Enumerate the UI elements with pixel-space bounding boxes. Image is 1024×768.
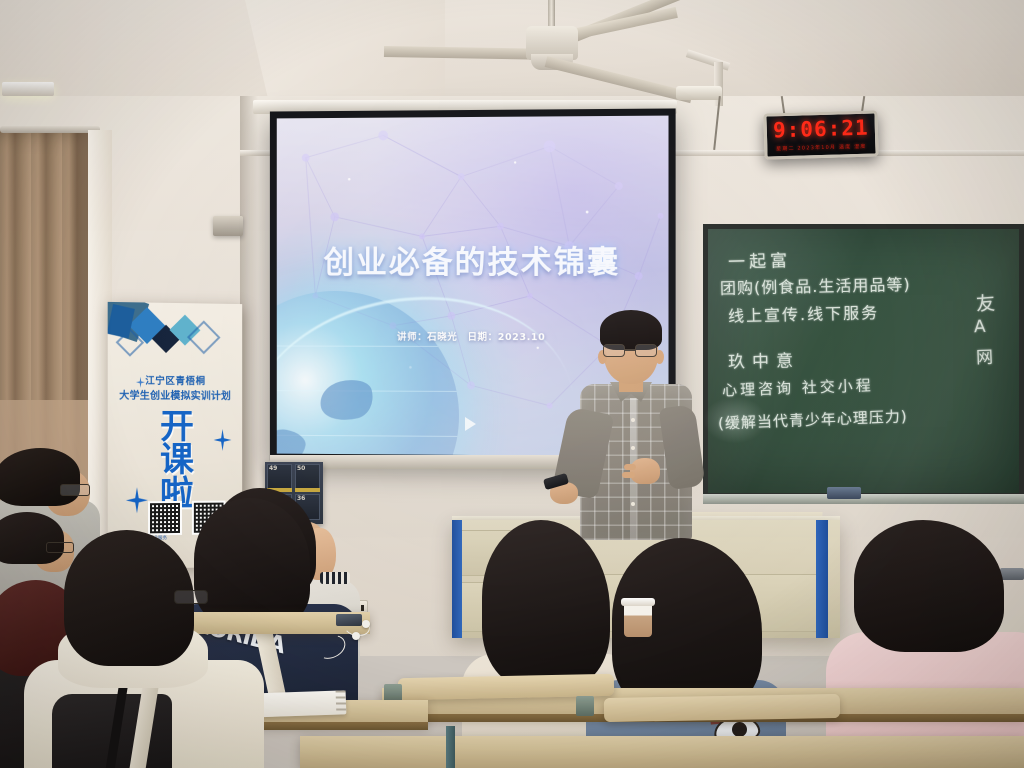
earbud xyxy=(362,620,370,628)
ceiling-light xyxy=(2,82,54,96)
student-hair xyxy=(0,448,80,506)
student-s4 xyxy=(28,530,278,768)
bench-seat xyxy=(604,694,840,722)
student-hair xyxy=(854,520,1004,652)
chalk-eraser xyxy=(827,487,861,499)
glasses-icon xyxy=(60,484,90,496)
locker-number: 50 xyxy=(297,465,305,472)
banner-headline: 开 课 啦 xyxy=(160,411,194,511)
lectern-trim xyxy=(816,520,828,638)
chalk-line-right: 网 xyxy=(976,343,994,369)
lectern-trim xyxy=(452,520,462,638)
presenter-right-hand xyxy=(630,458,660,484)
wall-speaker xyxy=(213,216,243,236)
banner-line-1: 江宁区青梧桐 xyxy=(108,372,242,387)
coffee-cup-lid xyxy=(621,598,655,606)
slide-title: 创业必备的技术锦囊 xyxy=(277,237,669,282)
ceiling-fan xyxy=(430,0,740,88)
glasses-icon xyxy=(603,344,659,357)
student-s8 xyxy=(596,538,780,768)
bench-bracket xyxy=(576,696,594,716)
projector-mount xyxy=(676,86,722,100)
classroom-photo: 一起富 团购(例食品.生活用品等) 线上宣传.线下服务 玖中意 心理咨询 社交小… xyxy=(0,0,1024,768)
play-triangle-icon xyxy=(465,417,476,431)
chalk-line: 线上宣传.线下服务 xyxy=(728,299,880,327)
desk-leg xyxy=(446,726,455,768)
chalk-line: 玖中意 xyxy=(728,346,800,372)
chalk-line-right: 友 xyxy=(975,288,996,316)
banner-headline-char: 课 xyxy=(160,444,194,477)
clock-time-display: 9:06:21 xyxy=(767,115,876,142)
chalk-line-right: A xyxy=(974,317,986,337)
chalk-line: 一起富 xyxy=(728,246,792,273)
digital-clock: 9:06:21 星期二 2023年10月 温度 湿度 xyxy=(763,110,878,159)
desk xyxy=(300,736,1024,768)
chalkboard: 一起富 团购(例食品.生活用品等) 线上宣传.线下服务 玖中意 心理咨询 社交小… xyxy=(703,224,1024,498)
clock-sub-display: 星期二 2023年10月 温度 湿度 xyxy=(767,142,875,152)
chalk-tray xyxy=(703,494,1024,504)
locker-number: 49 xyxy=(269,465,277,472)
earbud xyxy=(352,632,360,640)
glasses-icon xyxy=(174,590,208,604)
eye-patch-pupil xyxy=(732,722,747,737)
banner-line-2: 大学生创业模拟实训计划 xyxy=(108,387,242,403)
sparkle-icon xyxy=(126,487,148,513)
curtain-rod xyxy=(0,126,100,133)
sparkle-icon xyxy=(214,429,232,451)
coffee-cup xyxy=(624,601,652,637)
presenter xyxy=(576,310,696,540)
student-hair xyxy=(482,520,610,688)
student-s9: CHI AND TI CHI AND TI xyxy=(834,520,1024,768)
chalk-line: 团购(例食品.生活用品等) xyxy=(720,271,911,299)
